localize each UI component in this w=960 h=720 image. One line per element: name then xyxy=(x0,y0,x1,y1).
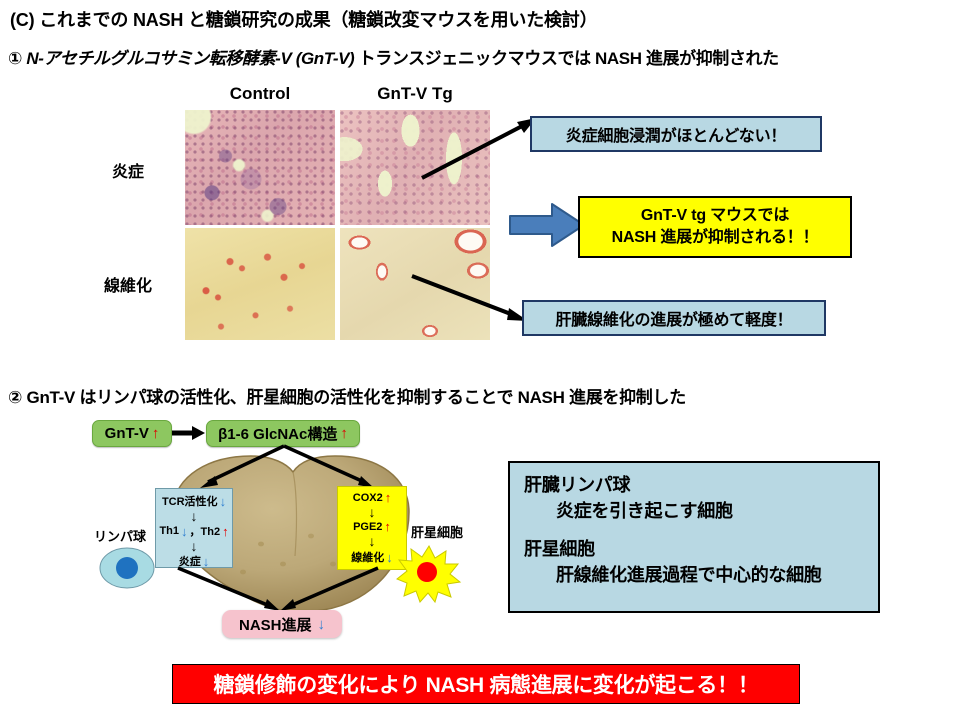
pathway-box-nash-outcome: NASH進展 ↓ xyxy=(222,610,342,638)
lymph-th2-label: ，Th2 xyxy=(190,523,221,539)
micrograph-fibrosis-control xyxy=(185,228,335,340)
pathway-box-lymphocyte: TCR活性化 ↓ ↓ Th1 ↓ ，Th2 ↑ ↓ 炎症 ↓ xyxy=(155,488,233,568)
stellate-fibrosis-label: 線維化 xyxy=(351,549,384,565)
down-arrow-icon: ↓ xyxy=(181,525,188,538)
section-1-heading-rest: トランスジェニックマウスでは NASH 進展が抑制された xyxy=(354,49,778,68)
callout-summary-line-1: GnT-V tg マウスでは xyxy=(641,205,789,227)
stellate-row-pge2: PGE2 ↑ xyxy=(353,520,391,533)
info-spacer xyxy=(524,524,878,536)
callout-summary-line-2: NASH 進展が抑制される！！ xyxy=(612,227,819,249)
pathway-gnt-v-label: GnT-V xyxy=(105,425,149,442)
stellate-row-fibrosis: 線維化 ↓ xyxy=(351,549,393,565)
down-arrow-black-icon: ↓ xyxy=(369,534,376,548)
down-arrow-black-icon: ↓ xyxy=(369,505,376,519)
lymphocyte-cell-icon xyxy=(98,546,156,590)
arrow-gntv-to-glcnac-icon xyxy=(172,424,206,442)
column-header-gntv-tg: GnT-V Tg xyxy=(340,84,490,104)
slide-canvas: (C) これまでの NASH と糖鎖研究の成果（糖鎖改変マウスを用いた検討） ①… xyxy=(0,0,960,720)
micrograph-inflammation-control xyxy=(185,110,335,225)
down-arrow-icon: ↓ xyxy=(220,495,227,508)
pathway-box-glcnac: β1-6 GlcNAc構造 ↑ xyxy=(206,420,360,447)
lymph-tcr-label: TCR活性化 xyxy=(162,493,218,509)
stellate-pge2-label: PGE2 xyxy=(353,521,382,533)
stellate-cell-label: 肝星細胞 xyxy=(411,522,463,541)
lymph-row-th: Th1 ↓ ，Th2 ↑ xyxy=(159,523,228,539)
info-detail-stellate-cell: 肝線維化進展過程で中心的な細胞 xyxy=(524,562,878,588)
callout-inflammation: 炎症細胞浸潤がほとんどない！ xyxy=(530,116,822,152)
lymph-th1-label: Th1 xyxy=(159,525,179,537)
converging-arrows-icon xyxy=(170,566,390,616)
down-arrow-black-icon: ↓ xyxy=(191,539,198,553)
section-1-number: ① xyxy=(8,49,26,68)
slide-title: (C) これまでの NASH と糖鎖研究の成果（糖鎖改変マウスを用いた検討） xyxy=(10,6,597,32)
stellate-cox2-label: COX2 xyxy=(353,492,383,504)
up-arrow-icon: ↑ xyxy=(384,520,391,533)
pathway-box-gnt-v: GnT-V ↑ xyxy=(92,420,172,447)
up-arrow-icon: ↑ xyxy=(152,426,160,441)
up-arrow-icon: ↑ xyxy=(385,491,392,504)
row-header-fibrosis: 線維化 xyxy=(104,272,152,296)
row-header-inflammation: 炎症 xyxy=(112,158,144,182)
stellate-cell-icon xyxy=(396,544,462,604)
info-heading-liver-lymphocyte: 肝臓リンパ球 xyxy=(524,472,878,498)
pathway-glcnac-label: β1-6 GlcNAc構造 xyxy=(218,423,337,444)
section-2-heading: ② GnT-V はリンパ球の活性化、肝星細胞の活性化を抑制することで NASH … xyxy=(8,383,686,408)
info-heading-stellate-cell: 肝星細胞 xyxy=(524,536,878,562)
column-header-control: Control xyxy=(185,84,335,104)
pathway-diagram: GnT-V ↑ β1-6 GlcNAc構造 ↑ リンパ球 TCR活性化 xyxy=(0,418,500,648)
info-detail-liver-lymphocyte: 炎症を引き起こす細胞 xyxy=(524,498,878,524)
lymphocyte-label: リンパ球 xyxy=(94,526,146,545)
conclusion-banner: 糖鎖修飾の変化により NASH 病態進展に変化が起こる！！ xyxy=(172,664,800,704)
section-1-heading: ① N-アセチルグルコサミン転移酵素-V (GnT-V) トランスジェニックマウ… xyxy=(8,44,779,69)
pointer-arrow-inflammation xyxy=(418,112,542,184)
down-arrow-icon: ↓ xyxy=(386,551,393,564)
block-arrow-right xyxy=(508,200,586,250)
callout-fibrosis: 肝臓線維化の進展が極めて軽度！ xyxy=(522,300,826,336)
lymph-row-tcr: TCR活性化 ↓ xyxy=(162,493,226,509)
callout-summary: GnT-V tg マウスでは NASH 進展が抑制される！！ xyxy=(578,196,852,258)
pointer-arrow-fibrosis xyxy=(408,268,534,328)
section-1-enzyme-name: N-アセチルグルコサミン転移酵素-V (GnT-V) xyxy=(26,49,354,68)
down-arrow-icon: ↓ xyxy=(318,617,326,632)
down-arrow-black-icon: ↓ xyxy=(191,509,198,523)
up-arrow-icon: ↑ xyxy=(222,525,229,538)
stellate-row-cox2: COX2 ↑ xyxy=(353,491,391,504)
info-box-cell-roles: 肝臓リンパ球 炎症を引き起こす細胞 肝星細胞 肝線維化進展過程で中心的な細胞 xyxy=(508,461,880,613)
up-arrow-icon: ↑ xyxy=(340,426,348,441)
nash-outcome-label: NASH進展 xyxy=(239,614,312,635)
